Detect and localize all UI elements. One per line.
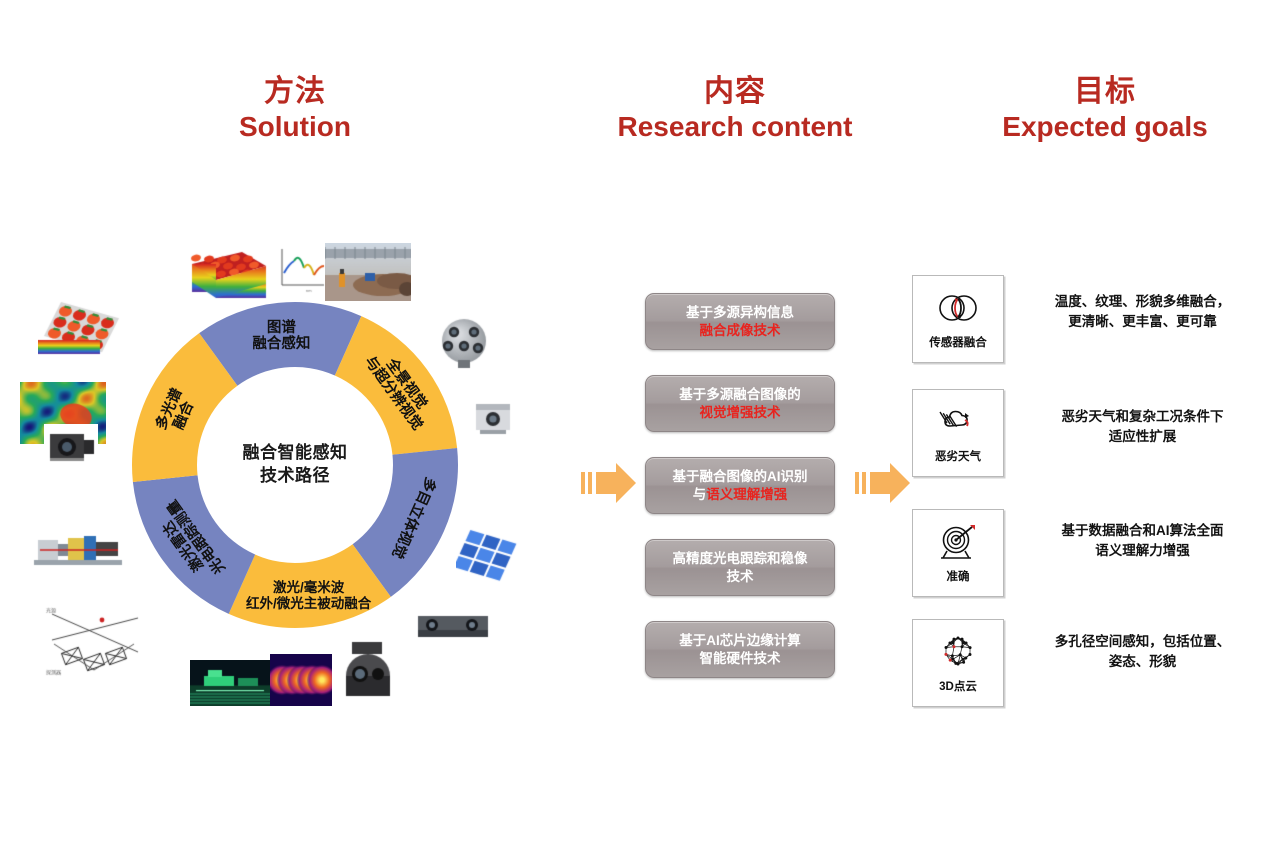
donut-center-label: 融合智能感知 技术路径 <box>208 442 383 488</box>
thumb-strawberry-array <box>38 300 120 356</box>
svg-text:图谱: 图谱 <box>267 318 296 336</box>
card-3d-point-cloud-caption: 3D点云 <box>939 678 977 694</box>
goal-text-adaptability-line-1: 恶劣天气和复杂工况条件下 <box>1025 407 1260 427</box>
box-visual-enhancement-line-1: 基于多源融合图像的 <box>679 386 801 404</box>
box-ai-chip-edge-computing-line-1: 基于AI芯片边缘计算 <box>679 632 801 650</box>
header-goals-cn: 目标 <box>955 75 1255 110</box>
arrow-content-to-goals <box>852 458 914 508</box>
point-cloud-sphere-icon <box>934 629 982 675</box>
rain-cloud-icon <box>934 400 982 444</box>
rain-cloud-icon <box>934 399 982 445</box>
goal-text-semantic-ability-line-1: 基于数据融合和AI算法全面 <box>1025 521 1260 541</box>
card-accuracy[interactable]: 准确 <box>912 509 1004 597</box>
target-dart-icon <box>934 520 982 564</box>
box-precision-tracking-stabilization[interactable]: 高精度光电跟踪和稳像技术 <box>645 539 835 596</box>
goal-text-spatial-sensing: 多孔径空间感知，包括位置、姿态、形貌 <box>1025 632 1260 671</box>
card-bad-weather[interactable]: 恶劣天气 <box>912 389 1004 477</box>
column-header-expected-goals: 目标 Expected goals <box>955 75 1255 143</box>
header-solution-cn: 方法 <box>150 75 440 110</box>
box-multisource-fusion-imaging-line-2: 融合成像技术 <box>700 322 781 340</box>
header-content-en: Research content <box>590 110 880 144</box>
box-precision-tracking-stabilization-line-2: 技术 <box>727 568 754 586</box>
header-solution-en: Solution <box>150 110 440 144</box>
box-visual-enhancement[interactable]: 基于多源融合图像的视觉增强技术 <box>645 375 835 432</box>
svg-text:融合感知: 融合感知 <box>252 334 310 352</box>
target-dart-icon <box>934 519 982 565</box>
box-multisource-fusion-imaging-line-1: 基于多源异构信息 <box>686 304 794 322</box>
box-ai-chip-edge-computing[interactable]: 基于AI芯片边缘计算智能硬件技术 <box>645 621 835 678</box>
card-bad-weather-caption: 恶劣天气 <box>935 448 981 464</box>
header-content-cn: 内容 <box>590 75 880 110</box>
point-cloud-sphere-icon <box>934 630 982 674</box>
thumb-gimbal-turret <box>332 638 404 706</box>
card-sensor-fusion-caption: 传感器融合 <box>929 334 987 350</box>
thumb-camera-module <box>44 424 98 468</box>
box-ai-recognition-semantics[interactable]: 基于融合图像的AI识别与语义理解增强 <box>645 457 835 514</box>
svg-text:激光/毫米波: 激光/毫米波 <box>273 579 345 595</box>
goal-text-spatial-sensing-line-1: 多孔径空间感知，包括位置、 <box>1025 632 1260 652</box>
header-goals-en: Expected goals <box>955 110 1255 144</box>
thumb-spectrum-plot <box>272 243 328 297</box>
goal-text-spatial-sensing-line-2: 姿态、形貌 <box>1025 652 1260 672</box>
donut-center-line2: 技术路径 <box>208 465 383 488</box>
box-ai-chip-edge-computing-line-2: 智能硬件技术 <box>700 650 781 668</box>
goal-text-semantic-ability: 基于数据融合和AI算法全面语义理解力增强 <box>1025 521 1260 560</box>
box-visual-enhancement-line-2: 视觉增强技术 <box>700 404 781 422</box>
card-accuracy-caption: 准确 <box>947 568 970 584</box>
thumb-thermal-portrait <box>270 654 332 706</box>
thumb-pipeline-inspection <box>325 243 411 301</box>
card-3d-point-cloud[interactable]: 3D点云 <box>912 619 1004 707</box>
technology-roadmap-donut: 图谱融合感知全景视觉与超分辨视觉多目立体视觉激光/毫米波红外/微光主被动融合激光… <box>130 300 460 630</box>
box-ai-recognition-semantics-line-1: 基于融合图像的AI识别 <box>673 468 808 486</box>
overlapping-circles-icon <box>934 286 982 330</box>
box-precision-tracking-stabilization-line-1: 高精度光电跟踪和稳像 <box>673 550 808 568</box>
card-sensor-fusion[interactable]: 传感器融合 <box>912 275 1004 363</box>
goal-text-fusion-quality-line-2: 更清晰、更丰富、更可靠 <box>1025 312 1260 332</box>
column-header-solution: 方法 Solution <box>150 75 440 143</box>
goal-text-adaptability-line-2: 适应性扩展 <box>1025 427 1260 447</box>
overlapping-circles-icon <box>934 285 982 331</box>
goal-text-adaptability: 恶劣天气和复杂工况条件下适应性扩展 <box>1025 407 1260 446</box>
goal-text-semantic-ability-line-2: 语义理解力增强 <box>1025 541 1260 561</box>
goal-text-fusion-quality-line-1: 温度、纹理、形貌多维融合， <box>1025 292 1260 312</box>
donut-center-line1: 融合智能感知 <box>208 442 383 465</box>
thumb-blue-panels <box>456 528 518 584</box>
arrow-solution-to-content <box>578 458 640 508</box>
box-multisource-fusion-imaging[interactable]: 基于多源异构信息融合成像技术 <box>645 293 835 350</box>
box-ai-recognition-semantics-line-2: 与语义理解增强 <box>693 486 788 504</box>
column-header-research-content: 内容 Research content <box>590 75 880 143</box>
svg-text:红外/微光主被动融合: 红外/微光主被动融合 <box>246 595 372 611</box>
thumb-sensor-head <box>466 392 522 442</box>
goal-text-fusion-quality: 温度、纹理、形貌多维融合，更清晰、更丰富、更可靠 <box>1025 292 1260 331</box>
thumb-night-vision-scene <box>190 660 270 706</box>
thumb-optical-bench <box>32 518 124 578</box>
thumb-hyperspectral-cube <box>186 242 272 304</box>
